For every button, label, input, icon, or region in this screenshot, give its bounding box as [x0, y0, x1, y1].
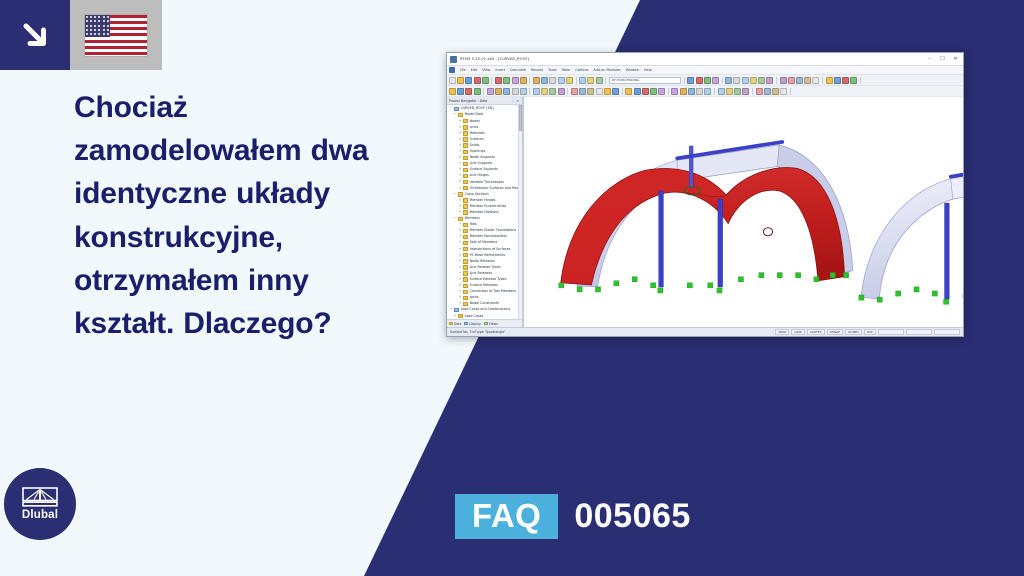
tree-twisty-icon[interactable]: +	[458, 296, 462, 299]
tree-twisty-icon[interactable]: +	[458, 144, 462, 147]
us-flag-icon	[85, 15, 147, 56]
folder-icon	[463, 253, 468, 257]
toolbar-icon[interactable]	[850, 77, 857, 84]
toolbar-icon[interactable]	[512, 88, 519, 95]
window-title: RFEM 5.25.01 x64 - [CURVED_ROOF]	[460, 57, 529, 61]
tree-twisty-icon[interactable]: +	[458, 174, 462, 177]
toolbar-icon[interactable]	[520, 77, 527, 84]
toolbar-icon[interactable]	[587, 88, 594, 95]
menu-bar: File Edit View Insert Calculate Results …	[447, 66, 963, 75]
navigator-tree-item-label: Line Supports	[470, 162, 493, 165]
toolbar-drawing	[447, 86, 963, 97]
toolbar-icon[interactable]	[587, 77, 594, 84]
arrow-down-right-badge	[0, 0, 70, 70]
toolbar-icon[interactable]	[465, 88, 472, 95]
maximize-button[interactable]: ☐	[938, 55, 947, 63]
folder-icon	[463, 302, 468, 306]
tree-twisty-icon[interactable]: +	[458, 120, 462, 123]
toolbar-icon[interactable]	[449, 88, 456, 95]
toolbar-icon[interactable]	[625, 88, 632, 95]
3d-model-view[interactable]	[524, 97, 963, 337]
navigator-tree-item-label: FE Mesh Refinements	[470, 254, 505, 257]
toolbar-icon[interactable]	[796, 77, 803, 84]
navigator-tree-item-label: Nodal Releases	[470, 260, 495, 263]
toolbar-icon[interactable]	[788, 77, 795, 84]
toolbar-separator	[722, 77, 723, 84]
menu-item-file[interactable]: File	[460, 68, 466, 72]
toolbar-icon[interactable]	[634, 88, 641, 95]
navigator-tree-item-label: Solids	[470, 144, 480, 147]
navigator-tree-item-label: Intersections of Surfaces	[470, 248, 511, 251]
folder-icon	[463, 198, 468, 202]
navigator-tabs: Data Display Views	[447, 319, 522, 327]
navigator-tree-item-label: Member Divisions	[470, 211, 499, 214]
navigator-tree-item-label: Variable Thicknesses	[470, 181, 504, 184]
tree-twisty-icon[interactable]: −	[453, 217, 457, 220]
navigator-window-buttons[interactable]: – ✕	[512, 99, 520, 103]
model-structure-left	[559, 142, 853, 293]
tree-twisty-icon[interactable]: +	[458, 162, 462, 165]
toolbar-icon[interactable]	[712, 77, 719, 84]
tree-twisty-icon[interactable]: +	[458, 272, 462, 275]
column	[659, 191, 664, 287]
toolbar-icon[interactable]	[612, 88, 619, 95]
toolbar-separator	[529, 88, 530, 95]
toolbar-icon[interactable]	[704, 88, 711, 95]
display-tab-icon	[464, 322, 468, 326]
navigator-tree-item-label: CURVED_ROOF [EN]	[461, 107, 494, 110]
toolbar-icon[interactable]	[474, 88, 481, 95]
root-icon	[454, 308, 459, 312]
navigator-tab-data-label: Data	[454, 322, 461, 326]
toolbar-separator	[483, 88, 484, 95]
faq-badge: FAQ	[455, 494, 558, 539]
toolbar-icon[interactable]	[733, 77, 740, 84]
faq-footer: FAQ 005065	[455, 494, 691, 539]
navigator-tree-item-label: Lines	[470, 126, 479, 129]
toolbar-icon[interactable]	[495, 88, 502, 95]
tree-twisty-icon[interactable]: +	[458, 187, 462, 190]
tree-twisty-icon[interactable]: +	[458, 138, 462, 141]
toolbar-icon[interactable]	[503, 77, 510, 84]
toolbar-icon[interactable]	[596, 77, 603, 84]
folder-icon	[463, 162, 468, 166]
navigator-tab-display[interactable]: Display	[464, 322, 480, 326]
tree-twisty-icon[interactable]: +	[458, 199, 462, 202]
toolbar-icon[interactable]	[812, 77, 819, 84]
toolbar-icon[interactable]	[680, 88, 687, 95]
toolbar-icon[interactable]	[756, 88, 763, 95]
toolbar-separator	[752, 88, 753, 95]
supports-group	[559, 273, 849, 293]
truss-frame-icon	[22, 487, 58, 507]
toolbar-icon[interactable]	[549, 88, 556, 95]
navigator-tree-item-label: Line Hinges	[470, 174, 489, 177]
folder-icon	[458, 113, 463, 117]
tree-twisty-icon[interactable]: +	[458, 278, 462, 281]
column	[718, 199, 723, 287]
toolbar-icon[interactable]	[696, 88, 703, 95]
result-marker	[763, 228, 772, 236]
toolbar-icon[interactable]	[725, 77, 732, 84]
scrollbar-thumb[interactable]	[519, 105, 522, 131]
tree-twisty-icon[interactable]: +	[453, 315, 457, 318]
toolbar-icon[interactable]	[512, 77, 519, 84]
document-icon	[449, 67, 455, 73]
navigator-tab-views[interactable]: Views	[484, 322, 498, 326]
folder-icon	[463, 277, 468, 281]
toolbar-icon[interactable]	[704, 77, 711, 84]
close-button[interactable]: ✕	[951, 55, 960, 63]
navigator-tab-display-label: Display	[469, 322, 480, 326]
model-structure-right	[859, 162, 963, 304]
folder-icon	[463, 174, 468, 178]
application-icon	[450, 56, 457, 63]
folder-icon	[463, 241, 468, 245]
toolbar-standard: RF-FORM-FINDING	[447, 75, 963, 86]
navigator-tree-item-label: Surface Supports	[470, 168, 498, 171]
faq-number: 005065	[574, 497, 690, 536]
toolbar-icon[interactable]	[764, 88, 771, 95]
tree-twisty-icon[interactable]: +	[458, 302, 462, 305]
dlubal-wordmark: Dlubal	[22, 509, 58, 521]
toolbar-separator	[605, 77, 606, 84]
menu-item-table[interactable]: Table	[562, 68, 571, 72]
folder-icon	[463, 168, 468, 172]
folder-icon	[463, 137, 468, 141]
toolbar-separator	[822, 77, 823, 84]
minimize-button[interactable]: –	[925, 55, 934, 63]
menu-item-help[interactable]: Help	[644, 68, 652, 72]
folder-icon	[463, 150, 468, 154]
status-message: Surface No. 3 of type 'Quadrangle'	[450, 330, 505, 334]
toolbar-icon[interactable]	[558, 88, 565, 95]
dlubal-logo: Dlubal	[4, 468, 76, 540]
column	[689, 146, 693, 187]
tree-twisty-icon[interactable]: +	[458, 150, 462, 153]
toolbar-icon[interactable]	[772, 88, 779, 95]
navigator-tree-item-label: Orthotropic Surfaces and Members	[470, 187, 522, 190]
toolbar-icon[interactable]	[558, 77, 565, 84]
tree-twisty-icon[interactable]: +	[458, 205, 462, 208]
arrow-down-right-icon	[18, 18, 52, 52]
navigator-tree-item-label: Model Data	[465, 113, 484, 116]
toolbar-icon[interactable]	[604, 88, 611, 95]
navigator-tree-item-label: Member Eccentricities	[470, 205, 507, 208]
toolbar-icon[interactable]	[750, 77, 757, 84]
toolbar-icon[interactable]	[780, 77, 787, 84]
navigator-tree-item-label: Nodal Supports	[470, 156, 495, 159]
navigator-tree-item-label: Line Release Types	[470, 266, 501, 269]
toolbar-icon[interactable]	[696, 77, 703, 84]
toolbar-icon[interactable]	[687, 77, 694, 84]
toolbar-icon[interactable]	[503, 88, 510, 95]
flag-canton	[85, 15, 110, 37]
slide-headline: Chociaż zamodelowałem dwa identyczne ukł…	[74, 86, 404, 345]
menu-item-window[interactable]: Window	[626, 68, 639, 72]
folder-icon	[463, 204, 468, 208]
tree-twisty-icon[interactable]: +	[458, 132, 462, 135]
rfem-application-window: RFEM 5.25.01 x64 - [CURVED_ROOF] – ☐ ✕ F…	[446, 52, 964, 337]
toolbar-icon[interactable]	[834, 77, 841, 84]
tree-twisty-icon[interactable]: +	[458, 248, 462, 251]
navigator-tree[interactable]: −CURVED_ROOF [EN]−Model Data+Nodes+Lines…	[447, 105, 522, 319]
tree-twisty-icon[interactable]: +	[458, 229, 462, 232]
navigator-tab-data[interactable]: Data	[449, 322, 461, 326]
toolbar-icon[interactable]	[650, 88, 657, 95]
toolbar-icon[interactable]	[571, 88, 578, 95]
toolbar-icon[interactable]	[533, 88, 540, 95]
folder-icon	[463, 125, 468, 129]
folder-icon	[463, 265, 468, 269]
navigator-tree-item-label: Members	[465, 217, 480, 220]
us-flag-badge	[70, 0, 162, 70]
toolbar-icon[interactable]	[566, 77, 573, 84]
tree-twisty-icon[interactable]: +	[458, 180, 462, 183]
navigator-tree-item-label: Nodal Constraints	[470, 302, 499, 305]
tree-twisty-icon[interactable]: +	[458, 168, 462, 171]
tree-twisty-icon[interactable]: +	[458, 290, 462, 293]
window-titlebar: RFEM 5.25.01 x64 - [CURVED_ROOF] – ☐ ✕	[447, 53, 963, 66]
menu-item-calculate[interactable]: Calculate	[510, 68, 526, 72]
toolbar-icon[interactable]	[457, 77, 464, 84]
toolbar-icon[interactable]	[482, 77, 489, 84]
navigator-header: Project Navigator - Data – ✕	[447, 97, 522, 105]
folder-icon	[458, 217, 463, 221]
toolbar-icon[interactable]	[726, 88, 733, 95]
navigator-tree-item-label: Member Hinges	[470, 199, 496, 202]
toolbar-icon[interactable]	[465, 77, 472, 84]
toolbar-icon[interactable]	[457, 88, 464, 95]
toolbar-icon[interactable]	[742, 77, 749, 84]
toolbar-separator	[714, 88, 715, 95]
folder-icon	[463, 296, 468, 300]
navigator-title: Project Navigator - Data	[449, 99, 487, 103]
navigator-tree-item-label: Materials	[470, 132, 485, 135]
toolbar-icon[interactable]	[533, 77, 540, 84]
toolbar-icon[interactable]	[449, 77, 456, 84]
model-workspace[interactable]	[523, 97, 963, 327]
toolbar-icon[interactable]	[642, 88, 649, 95]
toolbar-separator	[668, 88, 669, 95]
menu-item-addon-modules[interactable]: Add-on Modules	[593, 68, 620, 72]
navigator-tree-item-label: Connection of Two Members	[470, 290, 516, 293]
tree-twisty-icon[interactable]: +	[458, 284, 462, 287]
folder-icon	[463, 290, 468, 294]
toolbar-icon[interactable]	[804, 77, 811, 84]
application-body: Project Navigator - Data – ✕ −CURVED_ROO…	[447, 97, 963, 327]
data-tab-icon	[449, 322, 453, 326]
toolbar-icon[interactable]	[742, 88, 749, 95]
menu-item-insert[interactable]: Insert	[495, 68, 505, 72]
root-icon	[454, 107, 459, 111]
toolbar-separator	[684, 77, 685, 84]
tree-twisty-icon[interactable]: −	[453, 193, 457, 196]
toolbar-icon[interactable]	[688, 88, 695, 95]
folder-icon	[463, 235, 468, 239]
toolbar-icon[interactable]	[780, 88, 787, 95]
toolbar-icon[interactable]	[541, 77, 548, 84]
tree-twisty-icon[interactable]: +	[458, 223, 462, 226]
toolbar-icon[interactable]	[596, 88, 603, 95]
tree-twisty-icon[interactable]: +	[458, 126, 462, 129]
views-tab-icon	[484, 322, 488, 326]
navigator-scrollbar[interactable]	[518, 105, 522, 319]
navigator-tree-item-label: Nodes	[470, 120, 480, 123]
project-navigator: Project Navigator - Data – ✕ −CURVED_ROO…	[447, 97, 523, 327]
tree-twisty-icon[interactable]: +	[458, 156, 462, 159]
toolbar-icon[interactable]	[549, 77, 556, 84]
folder-icon	[463, 259, 468, 263]
tree-twisty-icon[interactable]: +	[458, 260, 462, 263]
folder-icon	[463, 284, 468, 288]
navigator-tree-item-label: Sets of Members	[470, 241, 498, 244]
tree-twisty-icon[interactable]: +	[458, 241, 462, 244]
toolbar-icon[interactable]	[474, 77, 481, 84]
folder-icon	[463, 247, 468, 251]
folder-icon	[463, 180, 468, 184]
folder-icon	[463, 223, 468, 227]
menu-item-options[interactable]: Options	[575, 68, 588, 72]
tree-twisty-icon[interactable]: +	[458, 235, 462, 238]
toolbar-icon[interactable]	[487, 88, 494, 95]
toolbar-separator	[776, 77, 777, 84]
folder-icon	[458, 192, 463, 196]
navigator-tree-item-label: Member Nonlinearities	[470, 235, 507, 238]
toolbar-icon[interactable]	[842, 77, 849, 84]
toolbar-icon[interactable]	[758, 77, 765, 84]
tree-twisty-icon[interactable]: −	[449, 107, 453, 110]
menu-item-edit[interactable]: Edit	[471, 68, 478, 72]
navigator-tree-item-label: Surface Releases	[470, 284, 498, 287]
toolbar-icon[interactable]	[671, 88, 678, 95]
menu-item-tools[interactable]: Tools	[548, 68, 556, 72]
tree-twisty-icon[interactable]: +	[458, 211, 462, 214]
navigator-tab-views-label: Views	[489, 322, 498, 326]
navigator-tree-item[interactable]: +Load Cases	[448, 313, 522, 319]
load-case-combobox[interactable]: RF-FORM-FINDING	[609, 77, 681, 84]
menu-item-results[interactable]: Results	[531, 68, 543, 72]
menu-item-view[interactable]: View	[482, 68, 490, 72]
navigator-tree-item-label: Line Releases	[470, 272, 493, 275]
toolbar-icon[interactable]	[495, 77, 502, 84]
folder-icon	[463, 186, 468, 190]
folder-icon	[463, 229, 468, 233]
folder-icon	[463, 119, 468, 123]
toolbar-separator	[622, 88, 623, 95]
toolbar-icon[interactable]	[579, 77, 586, 84]
folder-icon	[463, 131, 468, 135]
toolbar-icon[interactable]	[658, 88, 665, 95]
ridge-beam	[951, 162, 963, 176]
navigator-tree-item-label: Surface Release Types	[470, 278, 507, 281]
toolbar-separator	[567, 88, 568, 95]
folder-icon	[463, 210, 468, 214]
tree-twisty-icon[interactable]: −	[449, 308, 453, 311]
toolbar-icon[interactable]	[520, 88, 527, 95]
tree-twisty-icon[interactable]: +	[458, 266, 462, 269]
toolbar-separator	[529, 77, 530, 84]
toolbar-separator	[860, 77, 861, 84]
column	[945, 203, 950, 299]
toolbar-separator	[576, 77, 577, 84]
toolbar-icon[interactable]	[826, 77, 833, 84]
navigator-tree-item-label: Openings	[470, 150, 486, 153]
toolbar-icon[interactable]	[734, 88, 741, 95]
navigator-tree-item-label: Surfaces	[470, 138, 484, 141]
navigator-tree-item-label: Load Cases and Combinations	[461, 308, 511, 311]
folder-icon	[458, 314, 463, 318]
toolbar-icon[interactable]	[541, 88, 548, 95]
folder-icon	[463, 143, 468, 147]
folder-icon	[463, 156, 468, 160]
toolbar-icon[interactable]	[718, 88, 725, 95]
navigator-tree-item-label: Cross-Sections	[465, 193, 489, 196]
navigator-tree-item-label: Ribs	[470, 223, 477, 226]
navigator-tree-item-label: Joints	[470, 296, 479, 299]
navigator-tree-item-label: Load Cases	[465, 315, 484, 318]
toolbar-separator	[491, 77, 492, 84]
toolbar-icon[interactable]	[579, 88, 586, 95]
toolbar-icon[interactable]	[766, 77, 773, 84]
navigator-tree-item-label: Member Elastic Foundations	[470, 229, 517, 232]
tree-twisty-icon[interactable]: +	[458, 254, 462, 257]
tree-twisty-icon[interactable]: −	[453, 113, 457, 116]
toolbar-separator	[790, 88, 791, 95]
folder-icon	[463, 271, 468, 275]
